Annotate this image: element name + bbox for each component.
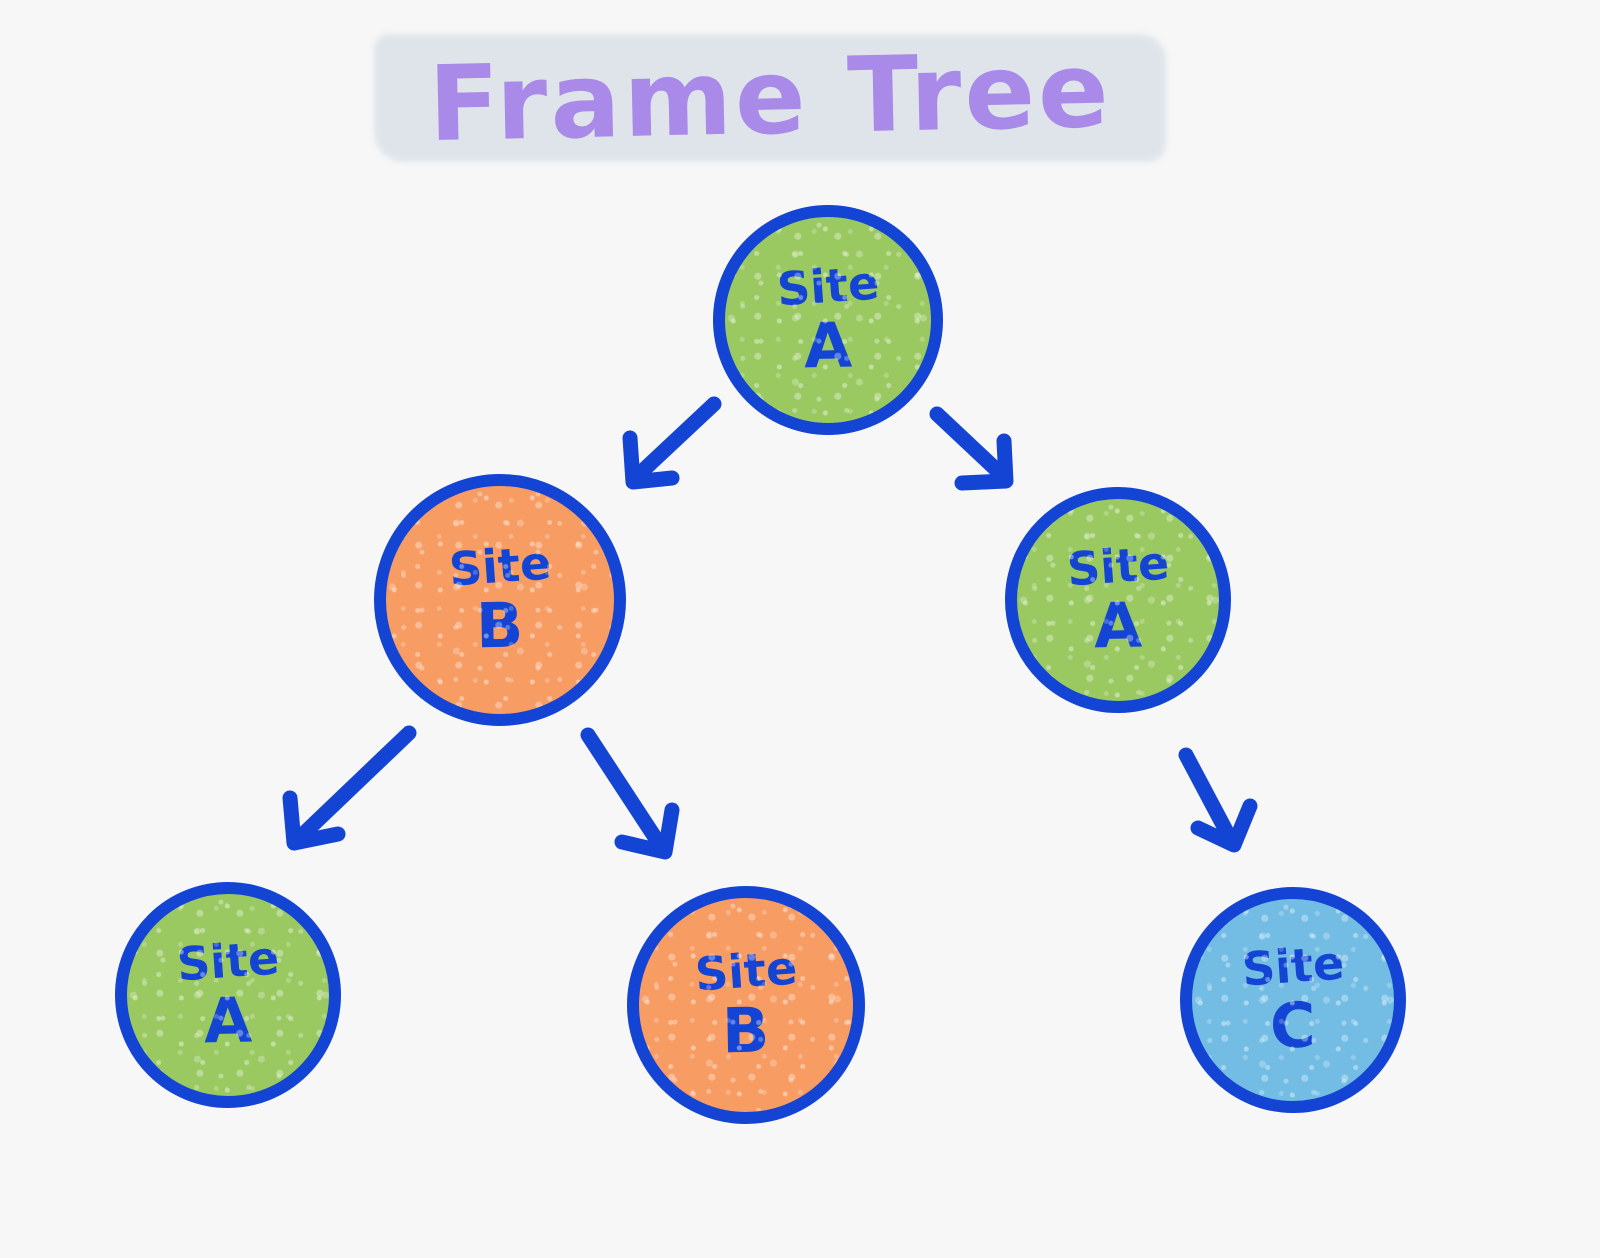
node-site-label: Site <box>175 934 280 987</box>
node-letter-label: B <box>722 1000 770 1063</box>
node-site-label: Site <box>1240 939 1345 992</box>
node-letter-label: A <box>803 315 852 378</box>
node-site-label: Site <box>693 944 798 997</box>
arrow-root-a-to-right-a <box>937 414 1006 483</box>
node-site-label: Site <box>1065 539 1170 592</box>
node-site-c-level2[interactable]: Site C <box>1180 887 1406 1113</box>
arrow-root-a-to-site-b <box>630 404 714 482</box>
node-site-b-level2[interactable]: Site B <box>627 886 865 1124</box>
arrow-site-b-to-bottom-b <box>588 735 672 852</box>
title-text: Frame Tree <box>369 14 1172 181</box>
diagram-canvas: Frame Tree Site A <box>0 0 1600 1258</box>
node-site-a-level1[interactable]: Site A <box>1005 487 1231 713</box>
node-site-label: Site <box>775 259 880 312</box>
arrow-site-b-to-bottom-a <box>290 733 409 843</box>
node-root-site-a[interactable]: Site A <box>713 205 943 435</box>
page-title: Frame Tree <box>370 22 1170 172</box>
node-letter-label: A <box>1093 595 1142 658</box>
node-letter-label: B <box>476 595 524 658</box>
node-site-label: Site <box>447 539 552 592</box>
node-site-a-level2[interactable]: Site A <box>115 882 341 1108</box>
arrow-right-a-to-site-c <box>1186 755 1250 845</box>
node-letter-label: A <box>203 990 252 1053</box>
node-site-b-level1[interactable]: Site B <box>374 474 626 726</box>
node-letter-label: C <box>1270 995 1317 1058</box>
